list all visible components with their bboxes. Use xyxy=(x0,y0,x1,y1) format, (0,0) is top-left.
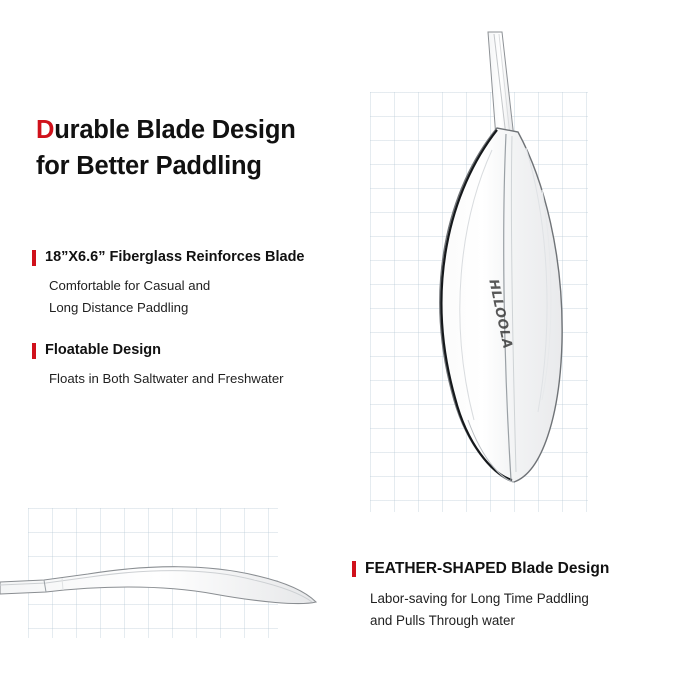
feature-title-row: Floatable Design xyxy=(32,342,372,359)
title-line-2: for Better Paddling xyxy=(36,152,262,180)
feature-body: Comfortable for Casual and Long Distance… xyxy=(49,275,372,318)
red-bar-icon xyxy=(32,250,36,266)
kayak-blade-illustration xyxy=(356,20,606,500)
feature-body: Labor-saving for Long Time Paddling and … xyxy=(370,588,667,632)
feature-title-row: 18”X6.6” Fiberglass Reinforces Blade xyxy=(32,249,372,266)
title-line-1: urable Blade Design xyxy=(54,116,295,144)
feature-title-text: FEATHER-SHAPED Blade Design xyxy=(365,560,609,579)
feature-body-line-2: Long Distance Paddling xyxy=(49,297,372,318)
feature-body-line-1: Labor-saving for Long Time Paddling xyxy=(370,588,667,610)
feature-title-text: Floatable Design xyxy=(45,342,161,359)
feature-body-line-2: and Pulls Through water xyxy=(370,610,667,632)
feature-body-line-1: Comfortable for Casual and xyxy=(49,275,372,296)
feature-body-line-1: Floats in Both Saltwater and Freshwater xyxy=(49,368,372,389)
feature-item-blade-size: 18”X6.6” Fiberglass Reinforces Blade Com… xyxy=(32,249,372,318)
feature-body: Floats in Both Saltwater and Freshwater xyxy=(49,368,372,389)
kayak-shaft-illustration xyxy=(0,530,340,640)
feature-item-floatable: Floatable Design Floats in Both Saltwate… xyxy=(32,342,372,390)
feature-title-row: FEATHER-SHAPED Blade Design xyxy=(352,560,667,579)
page-title: Durable Blade Design for Better Paddling xyxy=(36,112,366,184)
feature-title-text: 18”X6.6” Fiberglass Reinforces Blade xyxy=(45,249,305,266)
feature-item-feather-shaped: FEATHER-SHAPED Blade Design Labor-saving… xyxy=(352,560,667,632)
red-bar-icon xyxy=(32,343,36,359)
red-bar-icon xyxy=(352,561,356,577)
product-feature-page: HLLOOLA Durable Blade Design for Better … xyxy=(0,0,679,679)
title-drop-cap: D xyxy=(36,116,54,144)
